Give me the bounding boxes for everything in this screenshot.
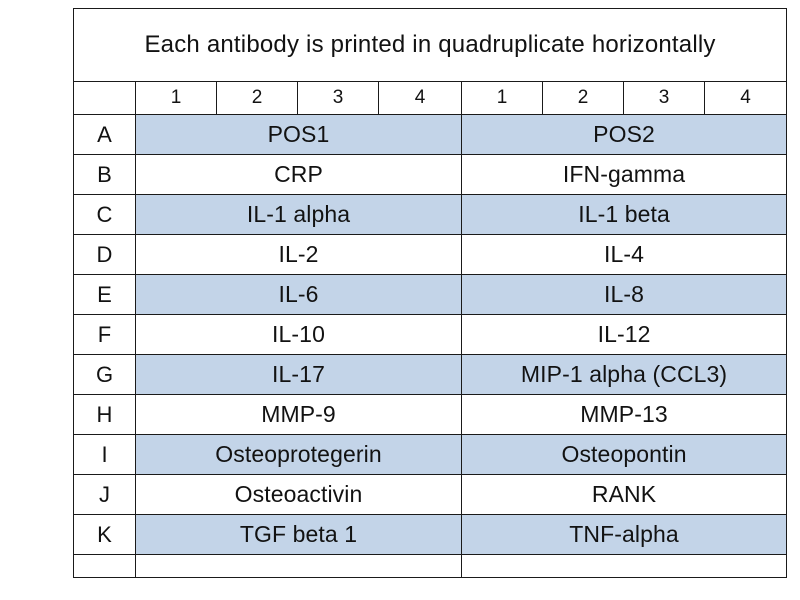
antibody-array-map: Each antibody is printed in quadruplicat… (73, 8, 786, 578)
row-label-clipped (74, 555, 136, 578)
antibody-cell-h-right: MMP-13 (462, 395, 787, 435)
row-label-d: D (74, 235, 136, 275)
column-header-3b: 3 (624, 82, 705, 115)
antibody-cell-d-right: IL-4 (462, 235, 787, 275)
table-row: H MMP-9 MMP-13 (74, 395, 787, 435)
row-label-b: B (74, 155, 136, 195)
header-corner-cell (74, 82, 136, 115)
antibody-cell-a-left: POS1 (136, 115, 462, 155)
table-row: B CRP IFN-gamma (74, 155, 787, 195)
table-row: J Osteoactivin RANK (74, 475, 787, 515)
column-header-4a: 4 (379, 82, 462, 115)
column-header-1a: 1 (136, 82, 217, 115)
antibody-cell-c-left: IL-1 alpha (136, 195, 462, 235)
table-row: C IL-1 alpha IL-1 beta (74, 195, 787, 235)
antibody-cell-k-right: TNF-alpha (462, 515, 787, 555)
antibody-cell-f-right: IL-12 (462, 315, 787, 355)
table-row (74, 555, 787, 578)
row-label-c: C (74, 195, 136, 235)
antibody-cell-a-right: POS2 (462, 115, 787, 155)
row-label-e: E (74, 275, 136, 315)
array-table-body: Each antibody is printed in quadruplicat… (74, 9, 787, 578)
antibody-cell-i-right: Osteopontin (462, 435, 787, 475)
title-row: Each antibody is printed in quadruplicat… (74, 9, 787, 82)
row-label-h: H (74, 395, 136, 435)
row-label-j: J (74, 475, 136, 515)
table-row: D IL-2 IL-4 (74, 235, 787, 275)
row-label-f: F (74, 315, 136, 355)
column-number-header-row: 1 2 3 4 1 2 3 4 (74, 82, 787, 115)
antibody-cell-j-right: RANK (462, 475, 787, 515)
antibody-cell-b-left: CRP (136, 155, 462, 195)
row-label-g: G (74, 355, 136, 395)
column-header-3a: 3 (298, 82, 379, 115)
table-row: F IL-10 IL-12 (74, 315, 787, 355)
antibody-cell-e-right: IL-8 (462, 275, 787, 315)
antibody-cell-g-left: IL-17 (136, 355, 462, 395)
antibody-cell-clipped-left (136, 555, 462, 578)
antibody-cell-h-left: MMP-9 (136, 395, 462, 435)
antibody-cell-k-left: TGF beta 1 (136, 515, 462, 555)
row-label-i: I (74, 435, 136, 475)
antibody-cell-clipped-right (462, 555, 787, 578)
antibody-cell-g-right: MIP-1 alpha (CCL3) (462, 355, 787, 395)
row-label-k: K (74, 515, 136, 555)
table-row: E IL-6 IL-8 (74, 275, 787, 315)
antibody-cell-c-right: IL-1 beta (462, 195, 787, 235)
antibody-cell-d-left: IL-2 (136, 235, 462, 275)
column-header-4b: 4 (705, 82, 787, 115)
column-header-2a: 2 (217, 82, 298, 115)
table-row: I Osteoprotegerin Osteopontin (74, 435, 787, 475)
antibody-cell-b-right: IFN-gamma (462, 155, 787, 195)
table-row: A POS1 POS2 (74, 115, 787, 155)
column-header-1b: 1 (462, 82, 543, 115)
array-layout-table: Each antibody is printed in quadruplicat… (73, 8, 787, 578)
antibody-cell-i-left: Osteoprotegerin (136, 435, 462, 475)
table-row: K TGF beta 1 TNF-alpha (74, 515, 787, 555)
table-row: G IL-17 MIP-1 alpha (CCL3) (74, 355, 787, 395)
antibody-cell-j-left: Osteoactivin (136, 475, 462, 515)
row-label-a: A (74, 115, 136, 155)
page-title: Each antibody is printed in quadruplicat… (74, 9, 787, 82)
antibody-cell-e-left: IL-6 (136, 275, 462, 315)
column-header-2b: 2 (543, 82, 624, 115)
antibody-cell-f-left: IL-10 (136, 315, 462, 355)
